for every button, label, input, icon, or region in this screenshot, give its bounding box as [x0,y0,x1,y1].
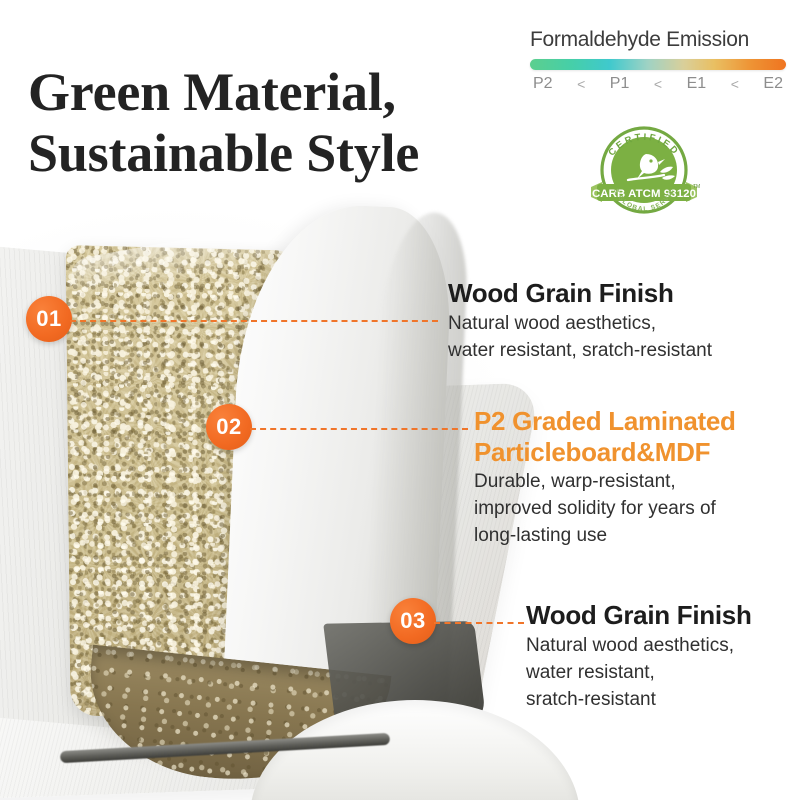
callout-leader-line-03 [434,622,524,624]
callout-text-01: Wood Grain Finish Natural wood aesthetic… [448,278,788,365]
callout-text-03: Wood Grain Finish Natural wood aesthetic… [526,600,798,714]
emission-separator-1: < [577,76,585,92]
page-title: Green Material, Sustainable Style [28,62,538,183]
callout-number-02[interactable]: 02 [206,404,252,450]
certification-seal-icon: CERTIFIED CARB ATCM 93120 TM SCS GLOBAL … [588,118,700,222]
emission-separator-2: < [654,76,662,92]
emission-grade-p1: P1 [610,75,630,93]
emission-scale-title: Formaldehyde Emission [530,28,786,52]
emission-separator-3: < [731,76,739,92]
carb-certification-badge: CERTIFIED CARB ATCM 93120 TM SCS GLOBAL … [588,118,700,222]
emission-grade-p2: P2 [533,75,553,93]
callout-body-01: Natural wood aesthetics, water resistant… [448,311,788,365]
emission-grade-labels: P2 < P1 < E1 < E2 [530,75,786,93]
callout-number-01[interactable]: 01 [26,296,72,342]
infographic-page: Green Material, Sustainable Style Formal… [0,0,800,800]
callout-body-02: Durable, warp-resistant, improved solidi… [474,469,794,550]
callout-heading-01: Wood Grain Finish [448,278,788,309]
callout-number-03[interactable]: 03 [390,598,436,644]
cert-banner-text: CARB ATCM 93120 [592,188,696,200]
formaldehyde-emission-scale: Formaldehyde Emission P2 < P1 < E1 < E2 [530,28,786,93]
callout-leader-line-01 [70,320,438,322]
callout-leader-line-02 [250,428,468,430]
callout-text-02: P2 Graded Laminated Particleboard&MDF Du… [474,406,794,550]
emission-grade-e1: E1 [687,75,707,93]
callout-body-03: Natural wood aesthetics, water resistant… [526,633,798,714]
cert-trademark: TM [693,184,700,190]
emission-gradient-bar [530,59,786,70]
callout-heading-03: Wood Grain Finish [526,600,798,631]
callout-heading-02: P2 Graded Laminated Particleboard&MDF [474,406,794,467]
emission-grade-e2: E2 [763,75,783,93]
